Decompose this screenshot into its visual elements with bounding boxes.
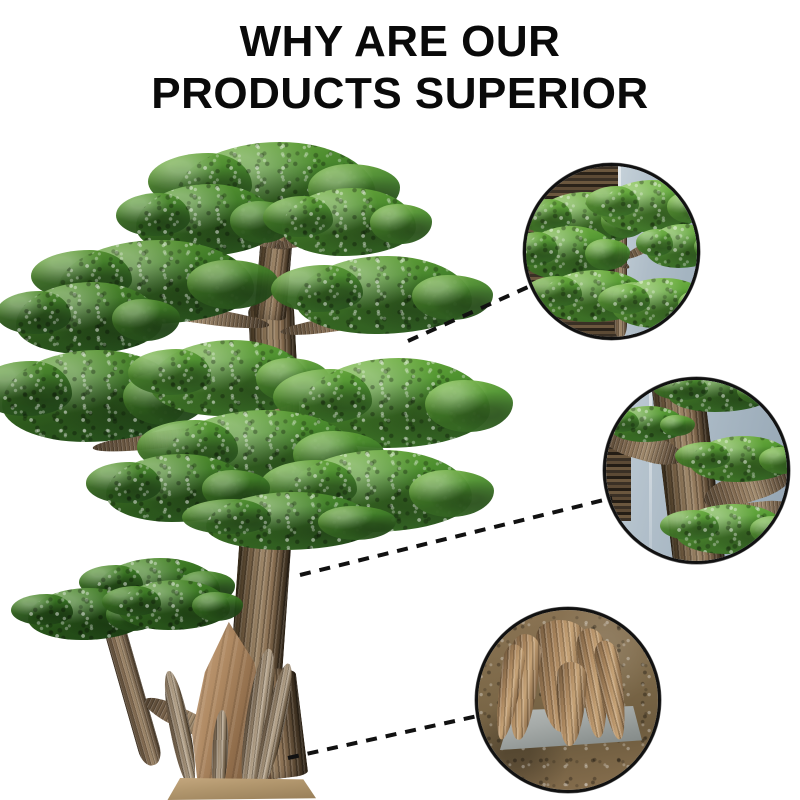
foliage-texture: [646, 224, 700, 268]
zoom-trunk-foliage-mid-right: [690, 436, 790, 482]
detail-callout-foliage[interactable]: [523, 163, 700, 340]
tree-base-plate: [158, 778, 316, 800]
foliage-texture: [676, 504, 788, 554]
page-title-line-1: WHY ARE OUR: [0, 16, 800, 68]
foliage-texture: [296, 256, 472, 334]
page-title: WHY ARE OUR PRODUCTS SUPERIOR: [0, 16, 800, 120]
zoom-trunk-foliage-left: [610, 406, 686, 442]
zoom-foliage-right-edge: [646, 224, 700, 268]
foliage-texture: [612, 278, 700, 328]
detail-callout-trunk[interactable]: [603, 377, 790, 564]
foliage-pad-crown-right: [282, 188, 416, 256]
foliage-texture: [16, 282, 162, 354]
companion-tree-foliage-right: [118, 580, 230, 630]
detail-callout-foliage-image: [526, 166, 697, 337]
detail-callout-base[interactable]: [475, 607, 661, 793]
foliage-texture: [206, 492, 376, 550]
zoom-trunk-foliage-bottom: [676, 504, 788, 554]
detail-callout-base-image: [478, 610, 658, 790]
foliage-pad-upper-far-left: [16, 282, 162, 354]
foliage-texture: [282, 188, 416, 256]
product-infographic-page: WHY ARE OUR PRODUCTS SUPERIOR: [0, 0, 800, 800]
foliage-pad-bottom-skirt: [206, 492, 376, 550]
detail-callout-trunk-image: [606, 380, 787, 561]
foliage-texture: [690, 436, 790, 482]
foliage-pad-upper-right: [296, 256, 472, 334]
product-image-bonsai-tree: [0, 110, 520, 800]
zoom-foliage-bottom-right: [612, 278, 700, 328]
page-title-line-2: PRODUCTS SUPERIOR: [0, 68, 800, 120]
foliage-texture: [118, 580, 230, 630]
companion-tree-trunk: [102, 618, 164, 768]
foliage-texture: [610, 406, 686, 442]
